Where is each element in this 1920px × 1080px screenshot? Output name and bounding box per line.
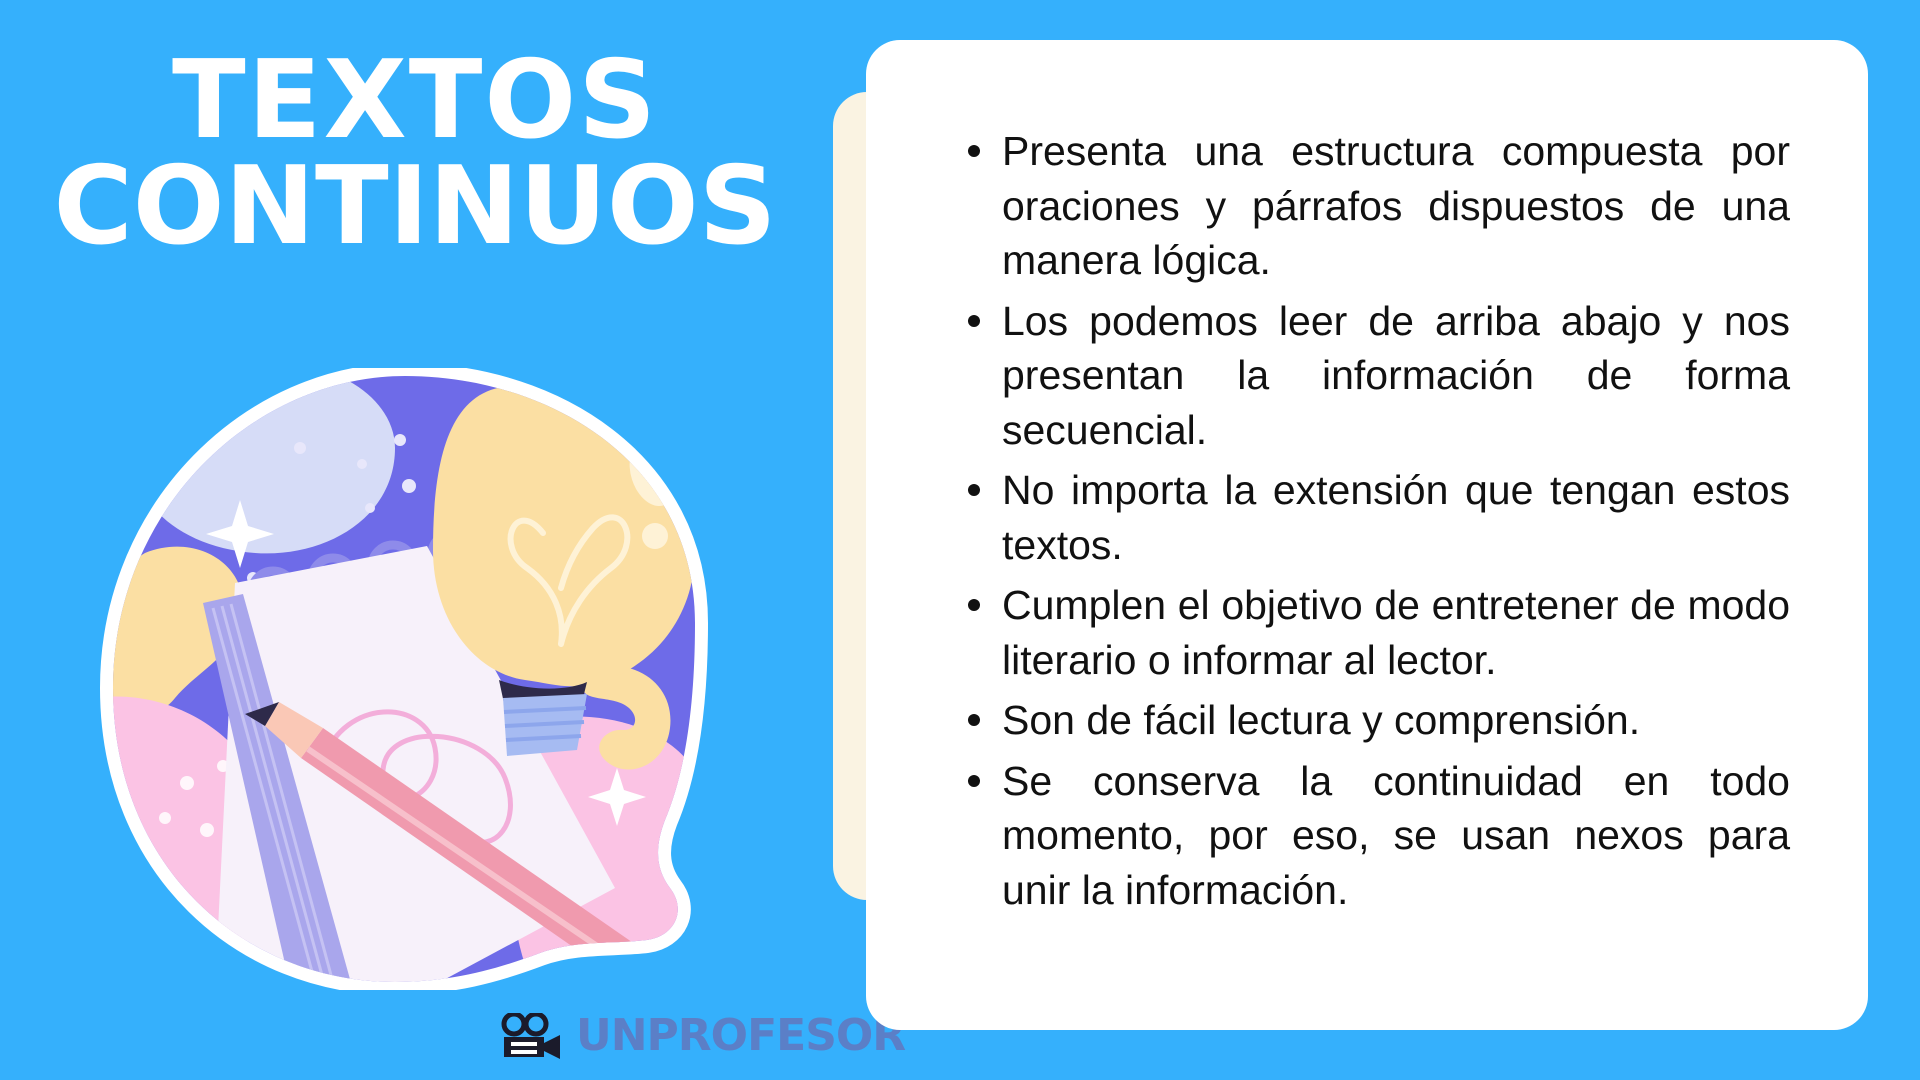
feature-bullet-list: Presenta una estructura compuesta por or… [964,124,1790,923]
poster-root: TEXTOS CONTINUOS [0,0,1920,1080]
list-item: No importa la extensión que tengan estos… [964,463,1790,572]
list-item: Presenta una estructura compuesta por or… [964,124,1790,288]
camera-reel-left [504,1014,524,1034]
video-camera-icon [500,1013,562,1059]
camera-reel-right [526,1014,546,1034]
page-title: TEXTOS CONTINUOS [0,48,830,260]
list-item: Se conserva la continuidad en todo momen… [964,754,1790,918]
brand-wordmark: UNPROFESOR [576,1014,905,1058]
page-title-line-1: TEXTOS [0,48,830,154]
notepad-pencil-lightbulb-illustration [95,368,715,990]
camera-stripe-bottom [511,1050,537,1054]
list-item: Son de fácil lectura y comprensión. [964,693,1790,748]
pencil-end-hole [654,962,677,984]
camera-stripe-top [511,1042,537,1046]
list-item: Los podemos leer de arriba abajo y nos p… [964,294,1790,458]
list-item: Cumplen el objetivo de entretener de mod… [964,578,1790,687]
page-title-line-2: CONTINUOS [0,154,830,260]
camera-lens-cone [544,1035,560,1059]
content-card: Presenta una estructura compuesta por or… [866,40,1868,1030]
bulb-highlight-small [642,523,668,549]
brand-logo[interactable]: UNPROFESOR [500,1005,830,1067]
pencil-end [635,958,681,990]
left-column: TEXTOS CONTINUOS [0,0,830,1080]
